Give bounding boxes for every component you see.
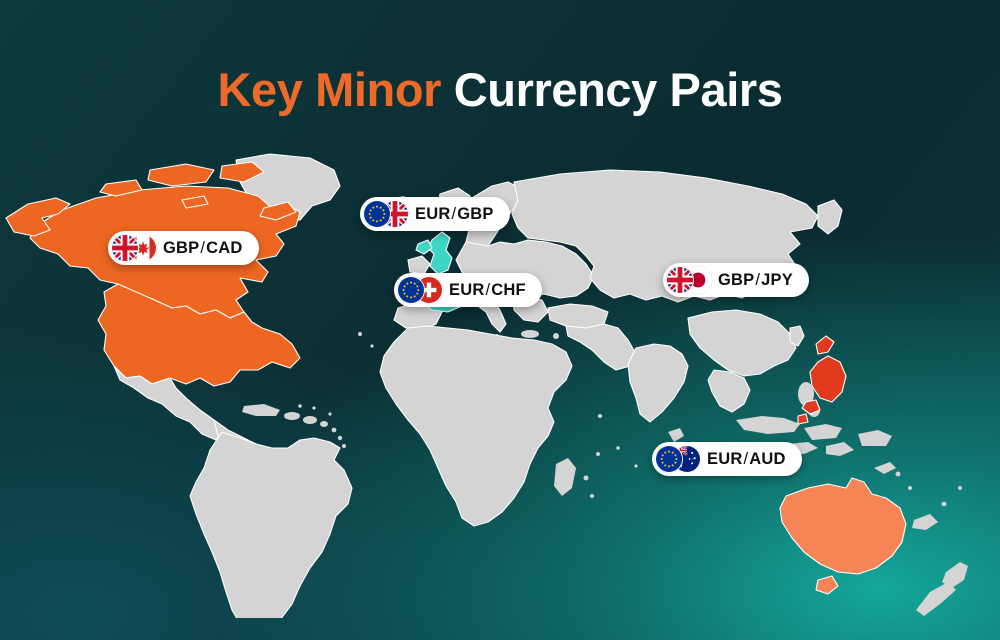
flag-pair [111, 234, 157, 262]
uk-flag-icon [111, 234, 139, 262]
currency-pair-eur-gbp[interactable]: EUR/GBP [360, 197, 510, 231]
eu-flag-icon [655, 445, 683, 473]
page-title: Key Minor Currency Pairs [0, 64, 1000, 116]
infographic-canvas: Key Minor Currency Pairs .land { fill:#D… [0, 0, 1000, 640]
region-africa [380, 326, 600, 526]
currency-pair-label: EUR/AUD [707, 450, 786, 469]
eu-flag-icon [363, 200, 391, 228]
flag-pair [666, 266, 712, 294]
currency-pair-gbp-jpy[interactable]: GBP/JPY [663, 263, 809, 297]
currency-pair-label: EUR/GBP [415, 205, 494, 224]
eu-flag-icon [397, 276, 425, 304]
page-title-accent: Key Minor [217, 63, 441, 116]
page-title-plain: Currency Pairs [454, 63, 783, 116]
currency-pair-eur-aud[interactable]: EUR/AUD [652, 442, 802, 476]
region-united-kingdom [428, 232, 452, 274]
currency-pair-label: GBP/CAD [163, 239, 243, 258]
currency-pair-label: GBP/JPY [718, 271, 793, 290]
region-japan [798, 336, 846, 424]
currency-pair-gbp-cad[interactable]: GBP/CAD [108, 231, 259, 265]
flag-pair [655, 445, 701, 473]
flag-pair [363, 200, 409, 228]
flag-pair [397, 276, 443, 304]
uk-flag-icon [666, 266, 694, 294]
region-caribbean [242, 404, 346, 448]
currency-pair-eur-chf[interactable]: EUR/CHF [394, 273, 542, 307]
currency-pair-label: EUR/CHF [449, 281, 526, 300]
region-south-america [190, 432, 352, 618]
region-australia [780, 478, 906, 594]
